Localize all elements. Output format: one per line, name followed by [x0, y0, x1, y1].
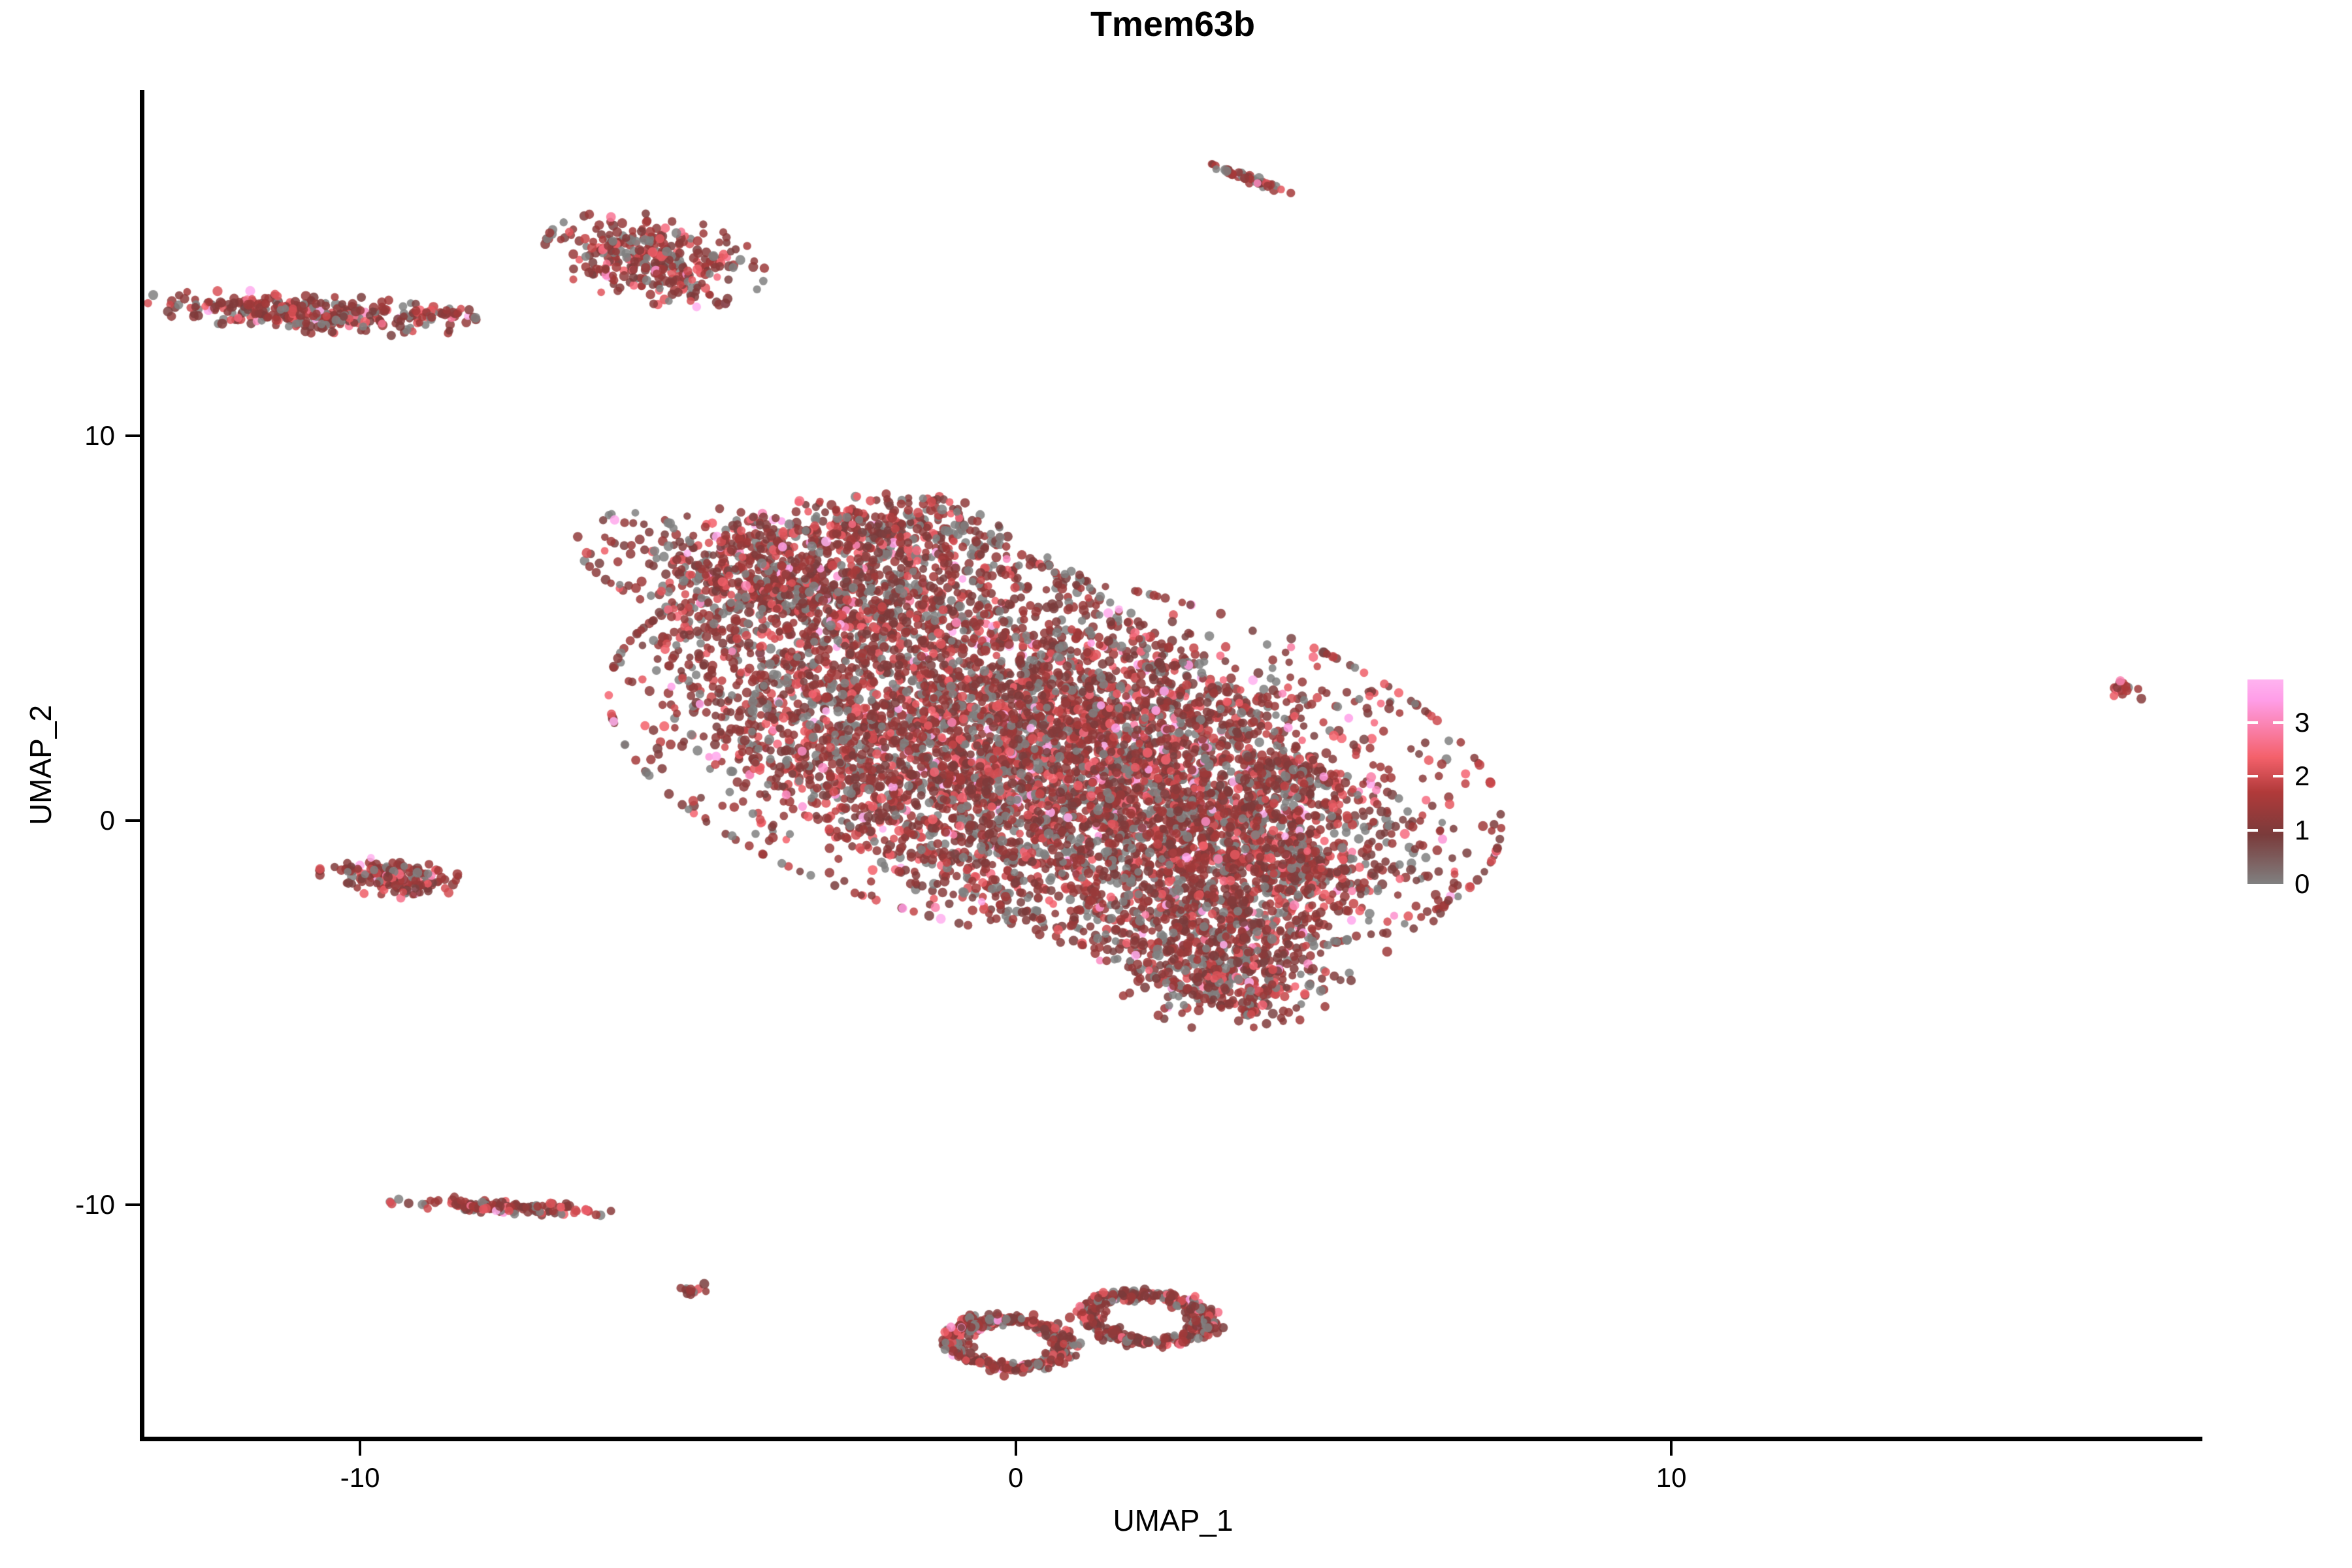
legend-label-0: 3: [2295, 707, 2310, 738]
x-tick-label-1: 0: [1008, 1462, 1023, 1494]
scatter-points-canvas: [144, 90, 2202, 1439]
legend-label-1: 2: [2295, 760, 2310, 792]
x-tick-label-0: -10: [340, 1462, 380, 1494]
x-tick-mark: [1015, 1441, 1017, 1456]
x-tick-mark: [1670, 1441, 1673, 1456]
x-tick-label-2: 10: [1656, 1462, 1687, 1494]
y-tick-mark: [125, 819, 140, 822]
y-axis-title: UMAP_2: [23, 704, 58, 825]
plot-panel: [144, 90, 2202, 1439]
y-tick-label-0: 10: [84, 420, 115, 451]
legend-colorbar: [2247, 679, 2283, 884]
plot-title-wrapper: Tmem63b: [144, 4, 2202, 44]
legend-tick-mark: [2273, 829, 2283, 832]
page-title: Tmem63b: [1090, 5, 1255, 44]
x-tick-mark: [359, 1441, 361, 1456]
y-axis-line: [140, 90, 144, 1441]
x-axis-title: UMAP_1: [144, 1503, 2202, 1538]
legend-tick-mark: [2247, 721, 2258, 724]
feature-plot-root: Tmem63b -10010 100-10 UMAP_1 UMAP_2 3210: [0, 0, 2352, 1568]
y-tick-mark: [125, 1203, 140, 1206]
x-axis-line: [144, 1437, 2202, 1441]
legend-tick-mark: [2247, 775, 2258, 777]
y-tick-mark: [125, 434, 140, 437]
legend-tick-mark: [2273, 721, 2283, 724]
legend-label-3: 0: [2295, 868, 2310, 900]
legend-tick-mark: [2247, 829, 2258, 832]
y-tick-label-2: -10: [75, 1189, 115, 1220]
y-tick-label-1: 0: [100, 805, 115, 836]
legend-label-2: 1: [2295, 815, 2310, 846]
legend-tick-mark: [2273, 775, 2283, 777]
